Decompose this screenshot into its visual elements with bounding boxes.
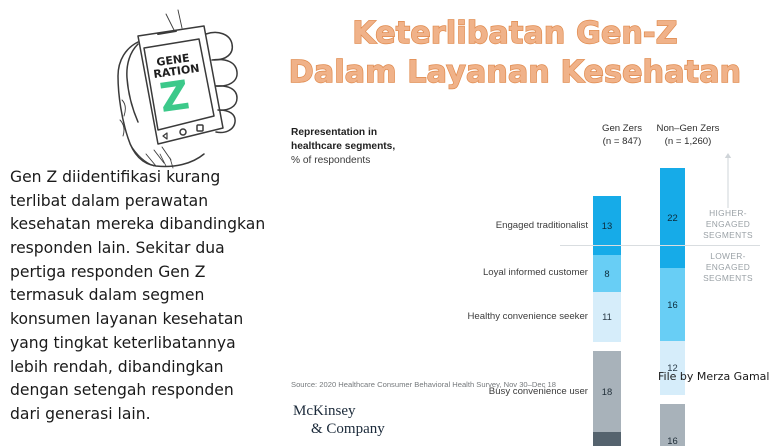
bar-segment: 11 — [593, 292, 621, 342]
title-line-1: Keterlibatan Gen-Z — [280, 16, 750, 51]
mckinsey-logo: McKinsey & Company — [293, 403, 385, 438]
bar-segment-value: 11 — [602, 312, 612, 321]
bar-segment-value: 16 — [667, 436, 677, 445]
annotation-lower-line-1: LOWER- — [691, 251, 765, 262]
chart-heading-line-2: healthcare segments, — [291, 140, 491, 154]
segment-label: Loyal informed customer — [483, 268, 588, 278]
annotation-lower-line-2: ENGAGED — [691, 262, 765, 273]
engagement-divider-line — [560, 245, 760, 246]
hand-holding-phone-sketch: GENE RATION Z — [100, 4, 285, 174]
column-header-non-gen-zers-n: (n = 1,260) — [645, 136, 731, 149]
column-header-non-gen-zers: Non–Gen Zers (n = 1,260) — [645, 123, 731, 148]
annotation-higher-line-2: ENGAGED — [691, 219, 765, 230]
byline-text: File by Merza Gamal — [658, 370, 769, 383]
mckinsey-logo-line-2: & Company — [293, 421, 385, 439]
bar-segment-value: 18 — [602, 387, 612, 396]
segment-label: Healthy convenience seeker — [467, 312, 588, 322]
engagement-up-arrow-icon — [722, 152, 734, 208]
annotation-higher-line-1: HIGHER- — [691, 208, 765, 219]
bar-segment-value: 8 — [604, 269, 609, 278]
annotation-higher-engaged: HIGHER- ENGAGED SEGMENTS — [691, 208, 765, 241]
chart-heading-line-1: Representation in — [291, 126, 491, 140]
stacked-bar-gen-zers: 13811181436 — [593, 196, 621, 446]
bar-segment: 16 — [660, 268, 685, 341]
annotation-higher-line-3: SEGMENTS — [691, 230, 765, 241]
stacked-bar-non-gen-zers: 221612161123 — [660, 168, 685, 446]
chart-heading: Representation in healthcare segments, %… — [291, 126, 491, 167]
bar-segment-value: 16 — [667, 300, 677, 309]
segment-label: Engaged traditionalist — [496, 221, 588, 231]
annotation-lower-engaged: LOWER- ENGAGED SEGMENTS — [691, 251, 765, 284]
annotation-lower-line-3: SEGMENTS — [691, 273, 765, 284]
bar-segment: 22 — [660, 168, 685, 268]
bar-segment: 13 — [593, 196, 621, 255]
source-note: Source: 2020 Healthcare Consumer Behavio… — [291, 380, 556, 389]
bar-segment: 8 — [593, 255, 621, 291]
bar-segment: 12 — [660, 341, 685, 396]
title-line-2: Dalam Layanan Kesehatan — [280, 55, 750, 90]
column-header-non-gen-zers-name: Non–Gen Zers — [645, 123, 731, 136]
mckinsey-logo-line-1: McKinsey — [293, 403, 385, 421]
chart-panel: Representation in healthcare segments, %… — [285, 118, 770, 446]
bar-segment-value: 22 — [667, 213, 677, 222]
chart-subtitle: % of respondents — [291, 154, 491, 168]
bar-segment: 18 — [593, 351, 621, 433]
bar-segment: 16 — [660, 404, 685, 446]
lead-paragraph: Gen Z diidentifikasi kurang terlibat dal… — [10, 166, 268, 427]
slide-title: Keterlibatan Gen-Z Dalam Layanan Kesehat… — [280, 16, 750, 95]
slide-canvas: GENE RATION Z Keterlibatan Gen-Z Dalam L… — [0, 0, 770, 446]
bar-segment: 14 — [593, 432, 621, 446]
bar-segment-value: 13 — [602, 221, 612, 230]
